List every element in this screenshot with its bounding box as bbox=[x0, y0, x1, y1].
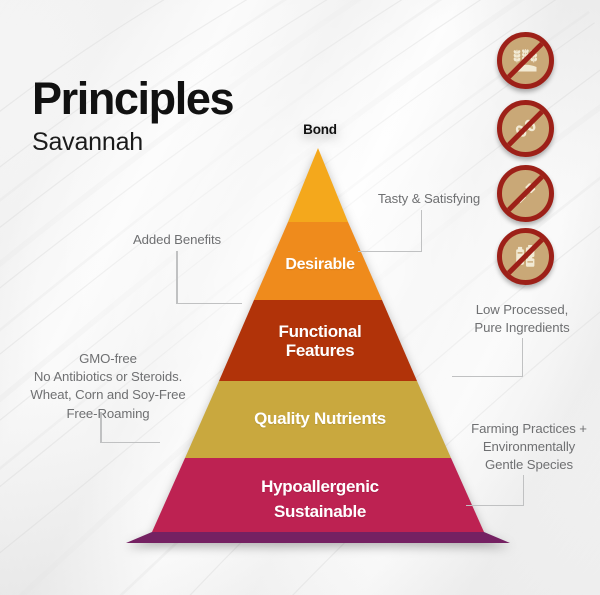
band-quality-nutrients bbox=[185, 381, 451, 458]
annotation-added-benefits: Added Benefits bbox=[118, 231, 236, 249]
no-additives-icon bbox=[497, 228, 554, 285]
no-wheat-icon bbox=[497, 32, 554, 89]
prohibition-slash bbox=[499, 230, 553, 284]
annotation-low-processed: Low Processed,Pure Ingredients bbox=[452, 301, 592, 337]
infographic-canvas: Principles Savannah Bond Desirable Funct… bbox=[0, 0, 600, 595]
no-syringe-icon bbox=[497, 165, 554, 222]
band-sustainable bbox=[126, 532, 510, 543]
prohibition-slash bbox=[499, 102, 553, 156]
connector-low-processed bbox=[452, 338, 523, 377]
band-functional-features bbox=[219, 300, 417, 381]
prohibition-slash bbox=[499, 167, 553, 221]
page-title: Principles bbox=[32, 76, 233, 121]
connector-tasty-satisfying bbox=[358, 210, 422, 252]
no-grain-icon bbox=[497, 100, 554, 157]
pyramid-apex-label: Bond bbox=[120, 122, 520, 137]
connector-added-benefits bbox=[176, 251, 242, 304]
connector-farming-practices bbox=[466, 475, 524, 506]
annotation-tasty-satisfying: Tasty & Satisfying bbox=[364, 190, 494, 208]
connector-gmo-free bbox=[100, 412, 160, 443]
band-apex bbox=[288, 148, 348, 222]
prohibition-slash bbox=[499, 34, 553, 88]
annotation-farming-practices: Farming Practices +EnvironmentallyGentle… bbox=[462, 420, 596, 475]
band-hypoallergenic bbox=[152, 458, 484, 532]
